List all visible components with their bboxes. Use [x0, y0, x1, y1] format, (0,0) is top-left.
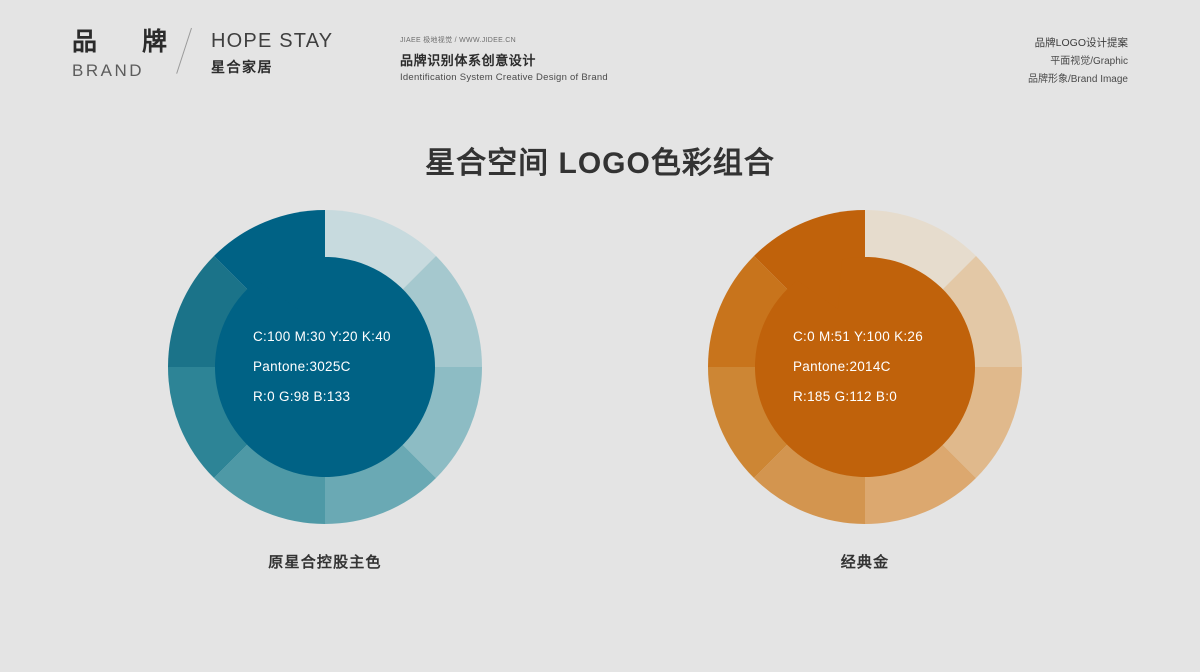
brand-word-cn: 品 牌	[72, 30, 177, 55]
color-wheel-primary-teal: C:100 M:30 Y:20 K:40Pantone:3025CR:0 G:9…	[155, 205, 495, 572]
wheel-spec-line: Pantone:2014C	[793, 359, 891, 374]
wheel-spec-line: R:0 G:98 B:133	[253, 389, 350, 404]
brand-name-cn: 星合家居	[211, 60, 333, 74]
page-header: 品 牌 BRAND HOPE STAY 星合家居 JIAEE 极地视觉 / WW…	[0, 0, 1200, 100]
studio-credit-block: JIAEE 极地视觉 / WWW.JIDEE.CN 品牌识别体系创意设计 Ide…	[400, 37, 608, 83]
wheel-spec-line: R:185 G:112 B:0	[793, 389, 897, 404]
wheel-spec-line: Pantone:3025C	[253, 359, 351, 374]
color-wheel-classic-gold: C:0 M:51 Y:100 K:26Pantone:2014CR:185 G:…	[695, 205, 1035, 572]
wheel-spec-line: C:0 M:51 Y:100 K:26	[793, 329, 923, 344]
studio-title-cn: 品牌识别体系创意设计	[400, 54, 608, 67]
brand-name: HOPE STAY 星合家居	[211, 30, 333, 74]
studio-title-en: Identification System Creative Design of…	[400, 73, 608, 83]
wheel-svg: C:100 M:30 Y:20 K:40Pantone:3025CR:0 G:9…	[163, 205, 487, 529]
meta-line-proposal: 品牌LOGO设计提案	[1028, 38, 1128, 49]
wheel-svg: C:0 M:51 Y:100 K:26Pantone:2014CR:185 G:…	[703, 205, 1027, 529]
page-title: 星合空间 LOGO色彩组合	[0, 138, 1200, 182]
meta-line-brand-image: 品牌形象/Brand Image	[1028, 75, 1128, 85]
color-wheel-gallery: C:100 M:30 Y:20 K:40Pantone:3025CR:0 G:9…	[0, 205, 1200, 605]
wheel-caption-classic-gold: 经典金	[695, 551, 1035, 572]
document-meta-block: 品牌LOGO设计提案 平面视觉/Graphic 品牌形象/Brand Image	[1028, 38, 1128, 85]
wheel-caption-primary-teal: 原星合控股主色	[155, 551, 495, 572]
wheel-canvas-classic-gold: C:0 M:51 Y:100 K:26Pantone:2014CR:185 G:…	[695, 205, 1035, 529]
wheel-canvas-primary-teal: C:100 M:30 Y:20 K:40Pantone:3025CR:0 G:9…	[155, 205, 495, 529]
brand-divider-slash	[177, 30, 211, 79]
wheel-spec-line: C:100 M:30 Y:20 K:40	[253, 329, 391, 344]
brand-lockup: 品 牌 BRAND HOPE STAY 星合家居	[72, 30, 333, 79]
brand-word-en: BRAND	[72, 62, 177, 79]
brand-word: 品 牌 BRAND	[72, 30, 177, 79]
meta-line-graphic: 平面视觉/Graphic	[1028, 57, 1128, 67]
studio-credit-line: JIAEE 极地视觉 / WWW.JIDEE.CN	[400, 37, 608, 44]
brand-name-en: HOPE STAY	[211, 31, 333, 51]
